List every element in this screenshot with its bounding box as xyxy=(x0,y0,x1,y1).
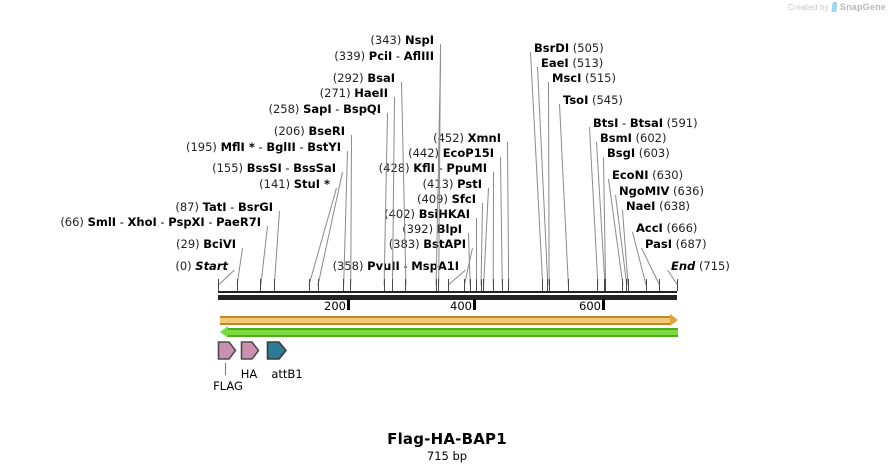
site-tick xyxy=(476,279,477,291)
enzyme-label-BsaI[interactable]: (292) BsaI xyxy=(333,72,395,84)
enzyme-label-BlpI[interactable]: (392) BlpI xyxy=(402,223,462,235)
ruler-label-200: 200 xyxy=(324,299,346,313)
enzyme-label-SfcI[interactable]: (409) SfcI xyxy=(417,193,476,205)
enzyme-label-MscI[interactable]: MscI (515) xyxy=(552,72,616,84)
enzyme-label-PciI-AflIII[interactable]: (339) PciI - AflIII xyxy=(334,50,434,62)
snapgene-logo-icon xyxy=(831,2,837,12)
leader-line xyxy=(392,97,395,285)
leader-line xyxy=(476,218,477,285)
site-tick xyxy=(343,279,344,291)
enzyme-label-EcoP15I[interactable]: (442) EcoP15I xyxy=(408,147,494,159)
site-tick xyxy=(237,279,238,291)
site-tick xyxy=(628,279,629,291)
site-tick xyxy=(646,279,647,291)
enzyme-label-BsgI[interactable]: BsgI (603) xyxy=(607,147,670,159)
enzyme-label-XmnI[interactable]: (452) XmnI xyxy=(433,132,501,144)
ruler-tick-200 xyxy=(347,299,350,310)
enzyme-label-BciVI[interactable]: (29) BciVI xyxy=(176,238,236,250)
forward-track-arrowhead-icon xyxy=(670,314,678,326)
watermark-prefix: Created by xyxy=(788,3,829,12)
site-tick xyxy=(274,279,275,291)
enzyme-label-HaeII[interactable]: (271) HaeII xyxy=(320,87,388,99)
leader-line xyxy=(401,82,406,285)
leader-line xyxy=(537,67,548,285)
site-tick xyxy=(508,279,509,291)
leader-line xyxy=(260,226,268,285)
enzyme-label-EcoNI[interactable]: EcoNI (630) xyxy=(612,169,683,181)
ruler-label-600: 600 xyxy=(579,299,601,313)
site-tick xyxy=(260,279,261,291)
site-tick xyxy=(502,279,503,291)
site-tick xyxy=(464,279,465,291)
enzyme-label-NaeI[interactable]: NaeI (638) xyxy=(626,200,690,212)
sequence-map-canvas: Created by SnapGene (343) NspI (339) Pci… xyxy=(0,0,894,470)
leader-line xyxy=(500,157,503,285)
leader-line xyxy=(507,142,509,285)
reverse-green-track[interactable] xyxy=(220,328,678,337)
leader-line xyxy=(274,211,280,285)
enzyme-label-TsoI[interactable]: TsoI (545) xyxy=(563,94,623,106)
axis-line-top xyxy=(218,291,677,293)
site-tick xyxy=(350,279,351,291)
site-tick xyxy=(597,279,598,291)
reverse-track-body xyxy=(228,328,678,337)
leader-line xyxy=(483,188,489,285)
site-tick xyxy=(438,279,439,291)
leader-line xyxy=(548,82,550,285)
site-tick xyxy=(493,279,494,291)
enzyme-label-EaeI[interactable]: EaeI (513) xyxy=(541,57,603,69)
site-tick xyxy=(483,279,484,291)
site-tick xyxy=(384,279,385,291)
feature-label-attB1[interactable]: attB1 xyxy=(271,367,302,381)
site-tick xyxy=(470,279,471,291)
ruler-tick-400 xyxy=(473,299,476,310)
axis-line-main xyxy=(218,295,677,300)
enzyme-label-start[interactable]: (0) Start xyxy=(175,260,228,272)
site-tick xyxy=(309,279,310,291)
feature-tick-FLAG xyxy=(225,363,226,375)
feature-label-FLAG[interactable]: FLAG xyxy=(213,379,243,393)
enzyme-label-end[interactable]: End (715) xyxy=(671,260,730,272)
enzyme-label-BsmI[interactable]: BsmI (602) xyxy=(600,132,666,144)
enzyme-label-NgoMIV[interactable]: NgoMIV (636) xyxy=(619,185,704,197)
feature-arrow-attB1[interactable] xyxy=(266,340,288,361)
enzyme-label-MflI-BglII-BstYI[interactable]: (195) MflI * - BglII - BstYI xyxy=(186,141,341,153)
enzyme-label-BsiHKAI[interactable]: (402) BsiHKAI xyxy=(384,208,470,220)
forward-orange-track[interactable] xyxy=(220,316,678,325)
reverse-track-arrowhead-icon xyxy=(220,326,228,338)
enzyme-label-BtsI-BtsaI[interactable]: BtsI - BtsaI (591) xyxy=(593,117,698,129)
site-tick xyxy=(448,279,449,291)
watermark-brand: SnapGene xyxy=(840,2,886,12)
enzyme-label-StuI[interactable]: (141) StuI * xyxy=(259,178,330,190)
site-tick xyxy=(392,279,393,291)
site-tick xyxy=(549,279,550,291)
site-tick xyxy=(659,279,660,291)
feature-arrow-HA[interactable] xyxy=(240,340,260,361)
enzyme-label-SmlI-XhoI-PspXI-PaeR7I[interactable]: (66) SmlI - XhoI - PspXI - PaeR7I xyxy=(60,216,261,228)
leader-line xyxy=(493,172,494,285)
feature-label-HA[interactable]: HA xyxy=(241,367,258,381)
site-tick xyxy=(677,279,678,291)
enzyme-label-PvuII-MspA1I[interactable]: (358) PvuII - MspA1I xyxy=(333,260,459,272)
ruler-tick-600 xyxy=(602,299,605,310)
site-tick xyxy=(542,279,543,291)
enzyme-label-PstI[interactable]: (413) PstI xyxy=(423,178,482,190)
enzyme-label-BstAPI[interactable]: (383) BstAPI xyxy=(389,238,466,250)
feature-arrow-FLAG[interactable] xyxy=(217,340,237,361)
site-tick xyxy=(568,279,569,291)
site-tick xyxy=(436,279,437,291)
enzyme-label-BseRI[interactable]: (206) BseRI xyxy=(274,125,345,137)
enzyme-label-BsrDI[interactable]: BsrDI (505) xyxy=(534,42,604,54)
site-tick xyxy=(622,279,623,291)
site-tick xyxy=(318,279,319,291)
site-tick xyxy=(605,279,606,291)
site-tick xyxy=(405,279,406,291)
enzyme-label-SapI-BspQI[interactable]: (258) SapI - BspQI xyxy=(268,103,381,115)
leader-line xyxy=(481,203,483,285)
leader-line xyxy=(559,104,569,285)
sequence-length: 715 bp xyxy=(0,449,894,463)
site-tick xyxy=(481,279,482,291)
enzyme-label-BssSI-BssSaI[interactable]: (155) BssSI - BssSaI xyxy=(212,162,336,174)
enzyme-label-TatI-BsrGI[interactable]: (87) TatI - BsrGI xyxy=(175,201,273,213)
snapgene-watermark: Created by SnapGene xyxy=(788,2,886,12)
page-title: Flag-HA-BAP1 xyxy=(0,430,894,448)
site-tick xyxy=(218,279,219,291)
forward-track-body xyxy=(220,316,670,325)
enzyme-label-AccI[interactable]: AccI (666) xyxy=(636,222,697,234)
enzyme-label-KflI-PpuMI[interactable]: (428) KflI - PpuMI xyxy=(379,162,487,174)
enzyme-label-PasI[interactable]: PasI (687) xyxy=(645,238,707,250)
ruler-label-400: 400 xyxy=(450,299,472,313)
enzyme-label-NspI[interactable]: (343) NspI xyxy=(370,34,434,46)
